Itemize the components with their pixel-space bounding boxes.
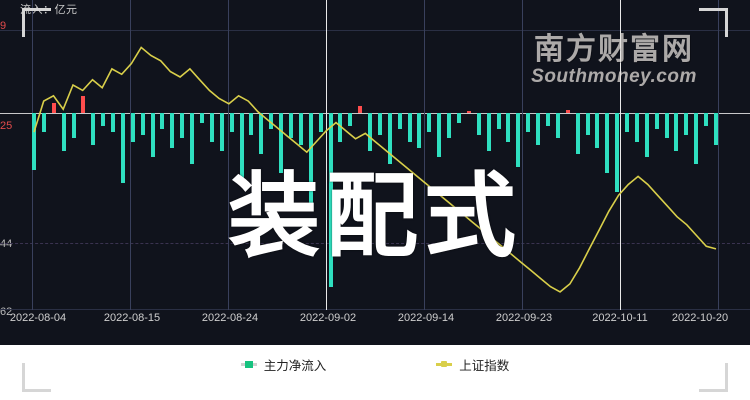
x-tick-0: 2022-08-04 — [10, 312, 66, 324]
legend-item-shanghai-index: 上证指数 — [436, 355, 509, 374]
watermark: 南方财富网 Southmoney.com — [494, 24, 734, 88]
x-tick-6: 2022-10-11 — [592, 312, 647, 324]
screenshot-root: 流入：亿元 9 25 44 62 2022 — [0, 0, 750, 400]
x-tick-2: 2022-08-24 — [202, 312, 258, 324]
legend-swatch-icon-main-net-inflow — [241, 363, 257, 366]
frame-corner-top-right — [699, 8, 728, 37]
x-tick-5: 2022-09-23 — [496, 312, 552, 324]
frame-corner-top-left — [22, 8, 51, 37]
watermark-cn-text: 南方财富网 — [494, 24, 734, 68]
x-tick-7: 2022-10-20 — [672, 312, 728, 324]
x-tick-1: 2022-08-15 — [104, 312, 160, 324]
frame-corner-bottom-left — [22, 363, 51, 392]
x-tick-4: 2022-09-14 — [398, 312, 454, 324]
frame-corner-bottom-right — [699, 363, 728, 392]
legend-label-main-net-inflow: 主力净流入 — [264, 355, 327, 374]
watermark-en-text: Southmoney.com — [494, 66, 734, 88]
legend-label-shanghai-index: 上证指数 — [459, 355, 509, 374]
x-tick-3: 2022-09-02 — [300, 312, 356, 324]
legend-item-main-net-inflow: 主力净流入 — [241, 355, 327, 374]
legend-swatch-icon-shanghai-index — [436, 363, 452, 366]
overlay-title: 装配式 — [0, 142, 750, 275]
chart-legend: 主力净流入 上证指数 — [0, 350, 750, 378]
x-axis: 2022-08-04 2022-08-15 2022-08-24 2022-09… — [0, 312, 750, 336]
